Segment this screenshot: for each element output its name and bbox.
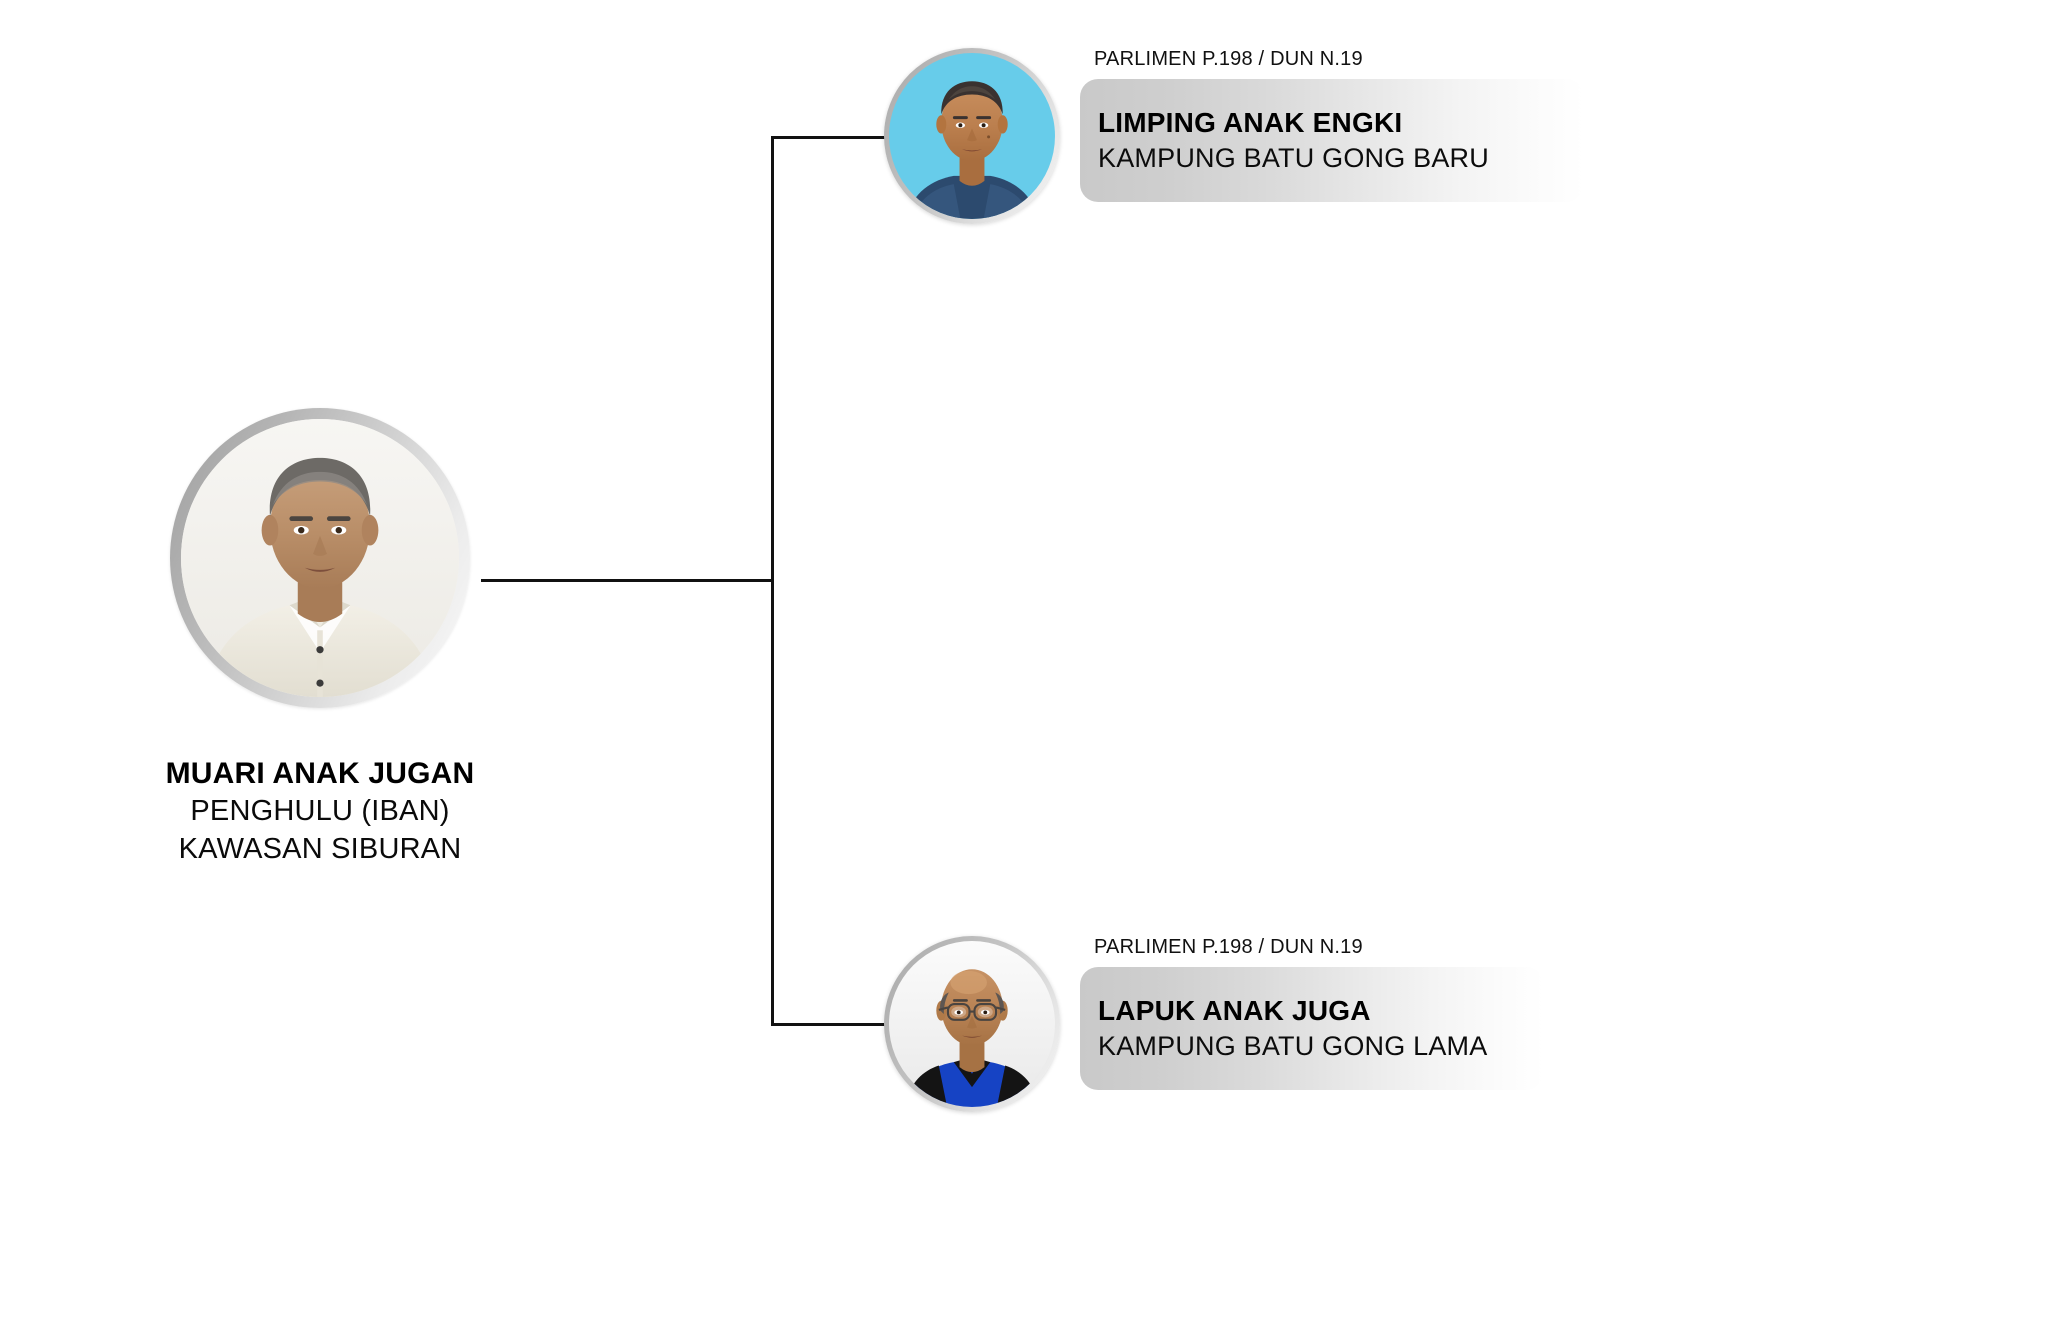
child-2-name: LAPUK ANAK JUGA xyxy=(1098,993,1544,1029)
child-1-text-block: PARLIMEN P.198 / DUN N.19 LIMPING ANAK E… xyxy=(1080,48,1584,202)
child-1-name: LIMPING ANAK ENGKI xyxy=(1098,105,1584,141)
avatar-illustration-child-1 xyxy=(889,53,1055,219)
org-node-child-2[interactable]: PARLIMEN P.198 / DUN N.19 LAPUK ANAK JUG… xyxy=(884,936,1544,1116)
connector-branch-child-1 xyxy=(771,136,887,139)
child-2-portrait[interactable] xyxy=(884,936,1060,1112)
org-node-child-1[interactable]: PARLIMEN P.198 / DUN N.19 LIMPING ANAK E… xyxy=(884,48,1584,228)
avatar-illustration-child-2 xyxy=(889,941,1055,1107)
root-area: KAWASAN SIBURAN xyxy=(150,831,490,869)
root-name: MUARI ANAK JUGAN xyxy=(150,754,490,793)
child-2-info-panel[interactable]: LAPUK ANAK JUGA KAMPUNG BATU GONG LAMA xyxy=(1080,967,1544,1090)
child-1-place: KAMPUNG BATU GONG BARU xyxy=(1098,141,1584,176)
child-1-portrait[interactable] xyxy=(884,48,1060,224)
child-2-text-block: PARLIMEN P.198 / DUN N.19 LAPUK ANAK JUG… xyxy=(1080,936,1544,1090)
root-role: PENGHULU (IBAN) xyxy=(150,793,490,831)
root-label-group: MUARI ANAK JUGAN PENGHULU (IBAN) KAWASAN… xyxy=(150,754,490,868)
avatar-illustration-root xyxy=(181,419,459,697)
root-portrait-photo xyxy=(181,419,459,697)
child-2-place: KAMPUNG BATU GONG LAMA xyxy=(1098,1029,1544,1064)
connector-vertical-trunk xyxy=(771,136,774,1026)
org-chart-canvas: MUARI ANAK JUGAN PENGHULU (IBAN) KAWASAN… xyxy=(0,0,2048,1333)
root-portrait[interactable] xyxy=(170,408,470,708)
child-1-constituency: PARLIMEN P.198 / DUN N.19 xyxy=(1094,48,1584,71)
child-1-info-panel[interactable]: LIMPING ANAK ENGKI KAMPUNG BATU GONG BAR… xyxy=(1080,79,1584,202)
connector-branch-child-2 xyxy=(771,1023,887,1026)
child-2-constituency: PARLIMEN P.198 / DUN N.19 xyxy=(1094,936,1544,959)
org-node-root[interactable]: MUARI ANAK JUGAN PENGHULU (IBAN) KAWASAN… xyxy=(150,408,490,868)
child-1-portrait-photo xyxy=(889,53,1055,219)
connector-root-horizontal xyxy=(481,579,773,582)
child-2-portrait-photo xyxy=(889,941,1055,1107)
